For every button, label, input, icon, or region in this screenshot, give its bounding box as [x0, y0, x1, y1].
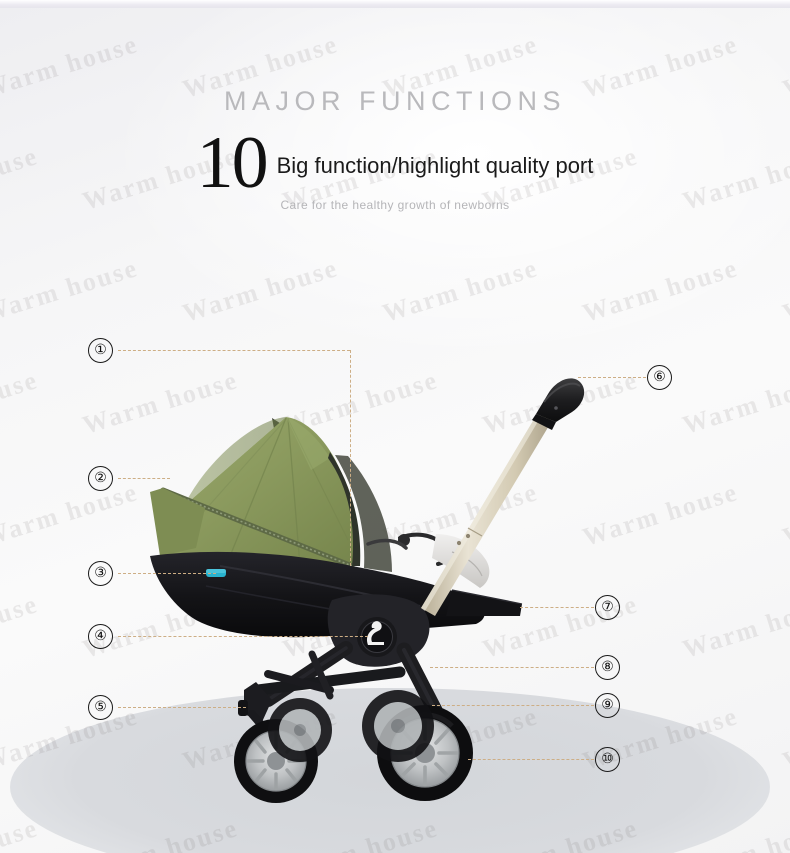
leader-line-7 [520, 607, 594, 608]
callout-label: ⑥ [653, 371, 666, 385]
headline-number: 10 [197, 122, 267, 204]
headline-description: Big function/highlight quality port [277, 153, 594, 178]
callout-label: ⑧ [601, 661, 614, 675]
callout-marker-7[interactable]: ⑦ [595, 595, 620, 620]
callout-label: ④ [94, 630, 107, 644]
callout-marker-10[interactable]: ⑩ [595, 747, 620, 772]
leader-line-1-h [118, 350, 350, 351]
callout-label: ⑤ [94, 701, 107, 715]
callout-marker-8[interactable]: ⑧ [595, 655, 620, 680]
leader-line-2 [118, 478, 170, 479]
callout-label: ⑩ [601, 753, 614, 767]
leader-line-1-v [350, 350, 351, 566]
canopy-group [150, 417, 392, 572]
callout-label: ⑦ [601, 601, 614, 615]
wheel-front-far [268, 698, 332, 762]
leader-line-9 [432, 705, 594, 706]
page-subcaption: Care for the healthy growth of newborns [0, 198, 790, 212]
headline-row: 10Big function/highlight quality port [0, 126, 790, 200]
callout-marker-9[interactable]: ⑨ [595, 693, 620, 718]
leader-line-3 [118, 573, 216, 574]
callout-label: ⑨ [601, 699, 614, 713]
wheel-rear-far [362, 690, 434, 762]
callout-label: ③ [94, 567, 107, 581]
callout-marker-4[interactable]: ④ [88, 624, 113, 649]
leader-line-5 [118, 707, 246, 708]
leader-line-10 [468, 759, 594, 760]
leader-line-8 [430, 667, 594, 668]
handle-bar [421, 378, 584, 616]
callout-label: ① [94, 344, 107, 358]
leader-line-6 [578, 377, 646, 378]
page-eyebrow-title: MAJOR FUNCTIONS [0, 86, 790, 117]
callout-label: ② [94, 472, 107, 486]
leader-line-4 [118, 636, 368, 637]
callout-marker-1[interactable]: ① [88, 338, 113, 363]
callout-marker-3[interactable]: ③ [88, 561, 113, 586]
callout-marker-6[interactable]: ⑥ [647, 365, 672, 390]
callout-marker-5[interactable]: ⑤ [88, 695, 113, 720]
callout-marker-2[interactable]: ② [88, 466, 113, 491]
promo-page: ① ② ③ ④ ⑤ ⑥ ⑦ ⑧ ⑨ ⑩ Warm houseWarm house… [0, 0, 790, 853]
